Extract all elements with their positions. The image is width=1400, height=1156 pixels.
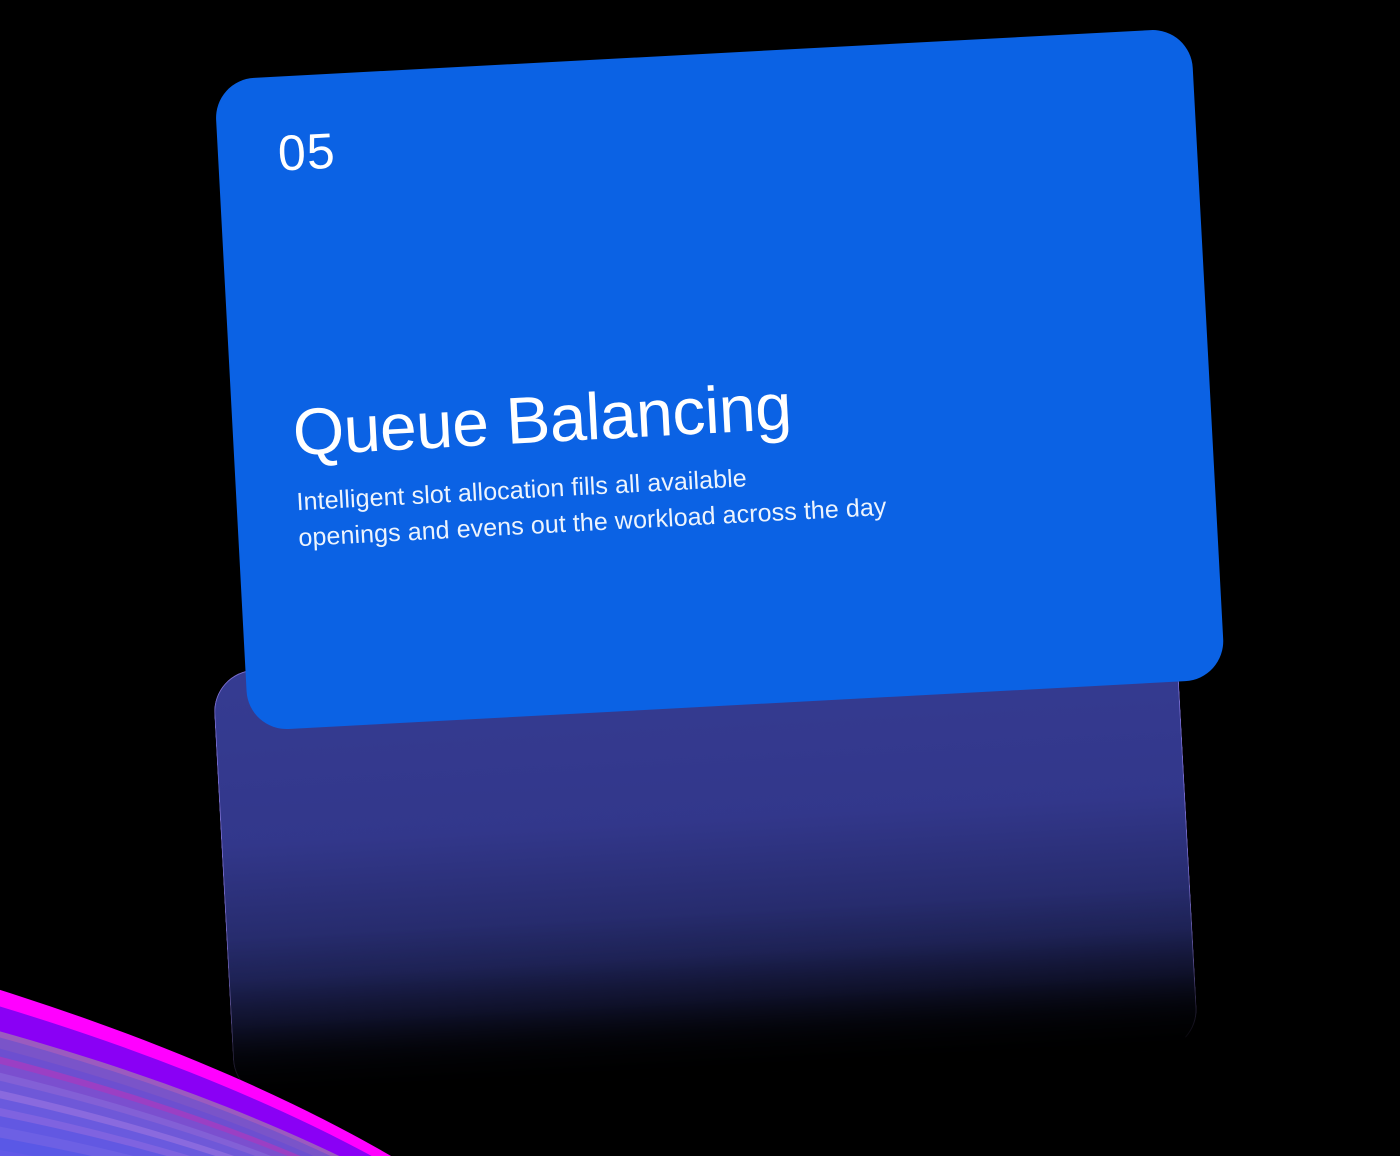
primary-feature-card[interactable]: 05 Queue Balancing Intelligent slot allo… (214, 28, 1225, 731)
scene-canvas: 05 Queue Balancing Intelligent slot allo… (0, 0, 1400, 1156)
card-content: 05 Queue Balancing Intelligent slot allo… (214, 28, 1225, 731)
